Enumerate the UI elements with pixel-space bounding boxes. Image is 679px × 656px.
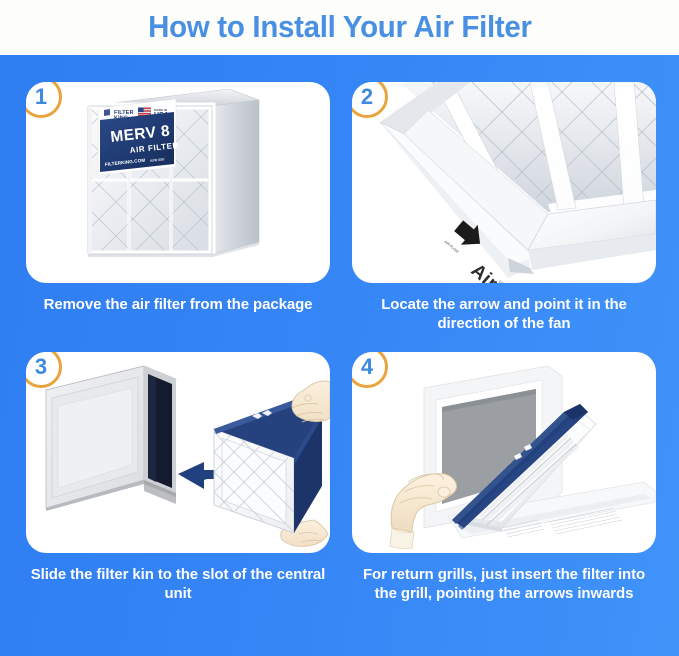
title-bar: How to Install Your Air Filter <box>0 0 679 55</box>
step-2-caption: Locate the arrow and point it in the dir… <box>352 295 656 333</box>
step-4: 4 For return grills, just insert the fil… <box>352 352 656 603</box>
infographic-page: How to Install Your Air Filter <box>0 0 679 656</box>
slide-filter-into-central-unit-illustration <box>26 352 330 553</box>
step-1-card: FILTER KING <box>26 82 330 283</box>
step-1-caption: Remove the air filter from the package <box>26 295 330 314</box>
air-filter-in-hands <box>214 372 330 553</box>
step-2: AIR FLOW Air Filter MERV 8 2 Locate the … <box>352 82 656 333</box>
step-4-caption: For return grills, just insert the filte… <box>352 565 656 603</box>
step-3-card: 3 <box>26 352 330 553</box>
page-title: How to Install Your Air Filter <box>148 11 532 42</box>
steps-container: FILTER KING <box>0 55 679 656</box>
step-1: FILTER KING <box>26 82 330 314</box>
step-4-card: 4 <box>352 352 656 553</box>
step-2-card: AIR FLOW Air Filter MERV 8 2 <box>352 82 656 283</box>
step-3-number: 3 <box>35 356 47 378</box>
insert-filter-into-return-grill-illustration <box>352 352 656 553</box>
step-3: 3 Slide the filter kin to the slot of th… <box>26 352 330 603</box>
air-filter-product-photo: FILTER KING <box>26 82 330 283</box>
step-4-number: 4 <box>361 356 373 378</box>
filter-frame-arrow-closeup: AIR FLOW Air Filter MERV 8 <box>352 82 656 283</box>
central-unit-slot <box>46 366 176 511</box>
arrow-label-text: AIR FLOW <box>443 240 459 255</box>
filter-label: FILTER KING <box>98 99 179 175</box>
step-2-number: 2 <box>361 86 373 108</box>
step-1-number: 1 <box>35 86 47 108</box>
hand-top-icon <box>292 381 330 422</box>
step-3-caption: Slide the filter kin to the slot of the … <box>26 565 330 603</box>
